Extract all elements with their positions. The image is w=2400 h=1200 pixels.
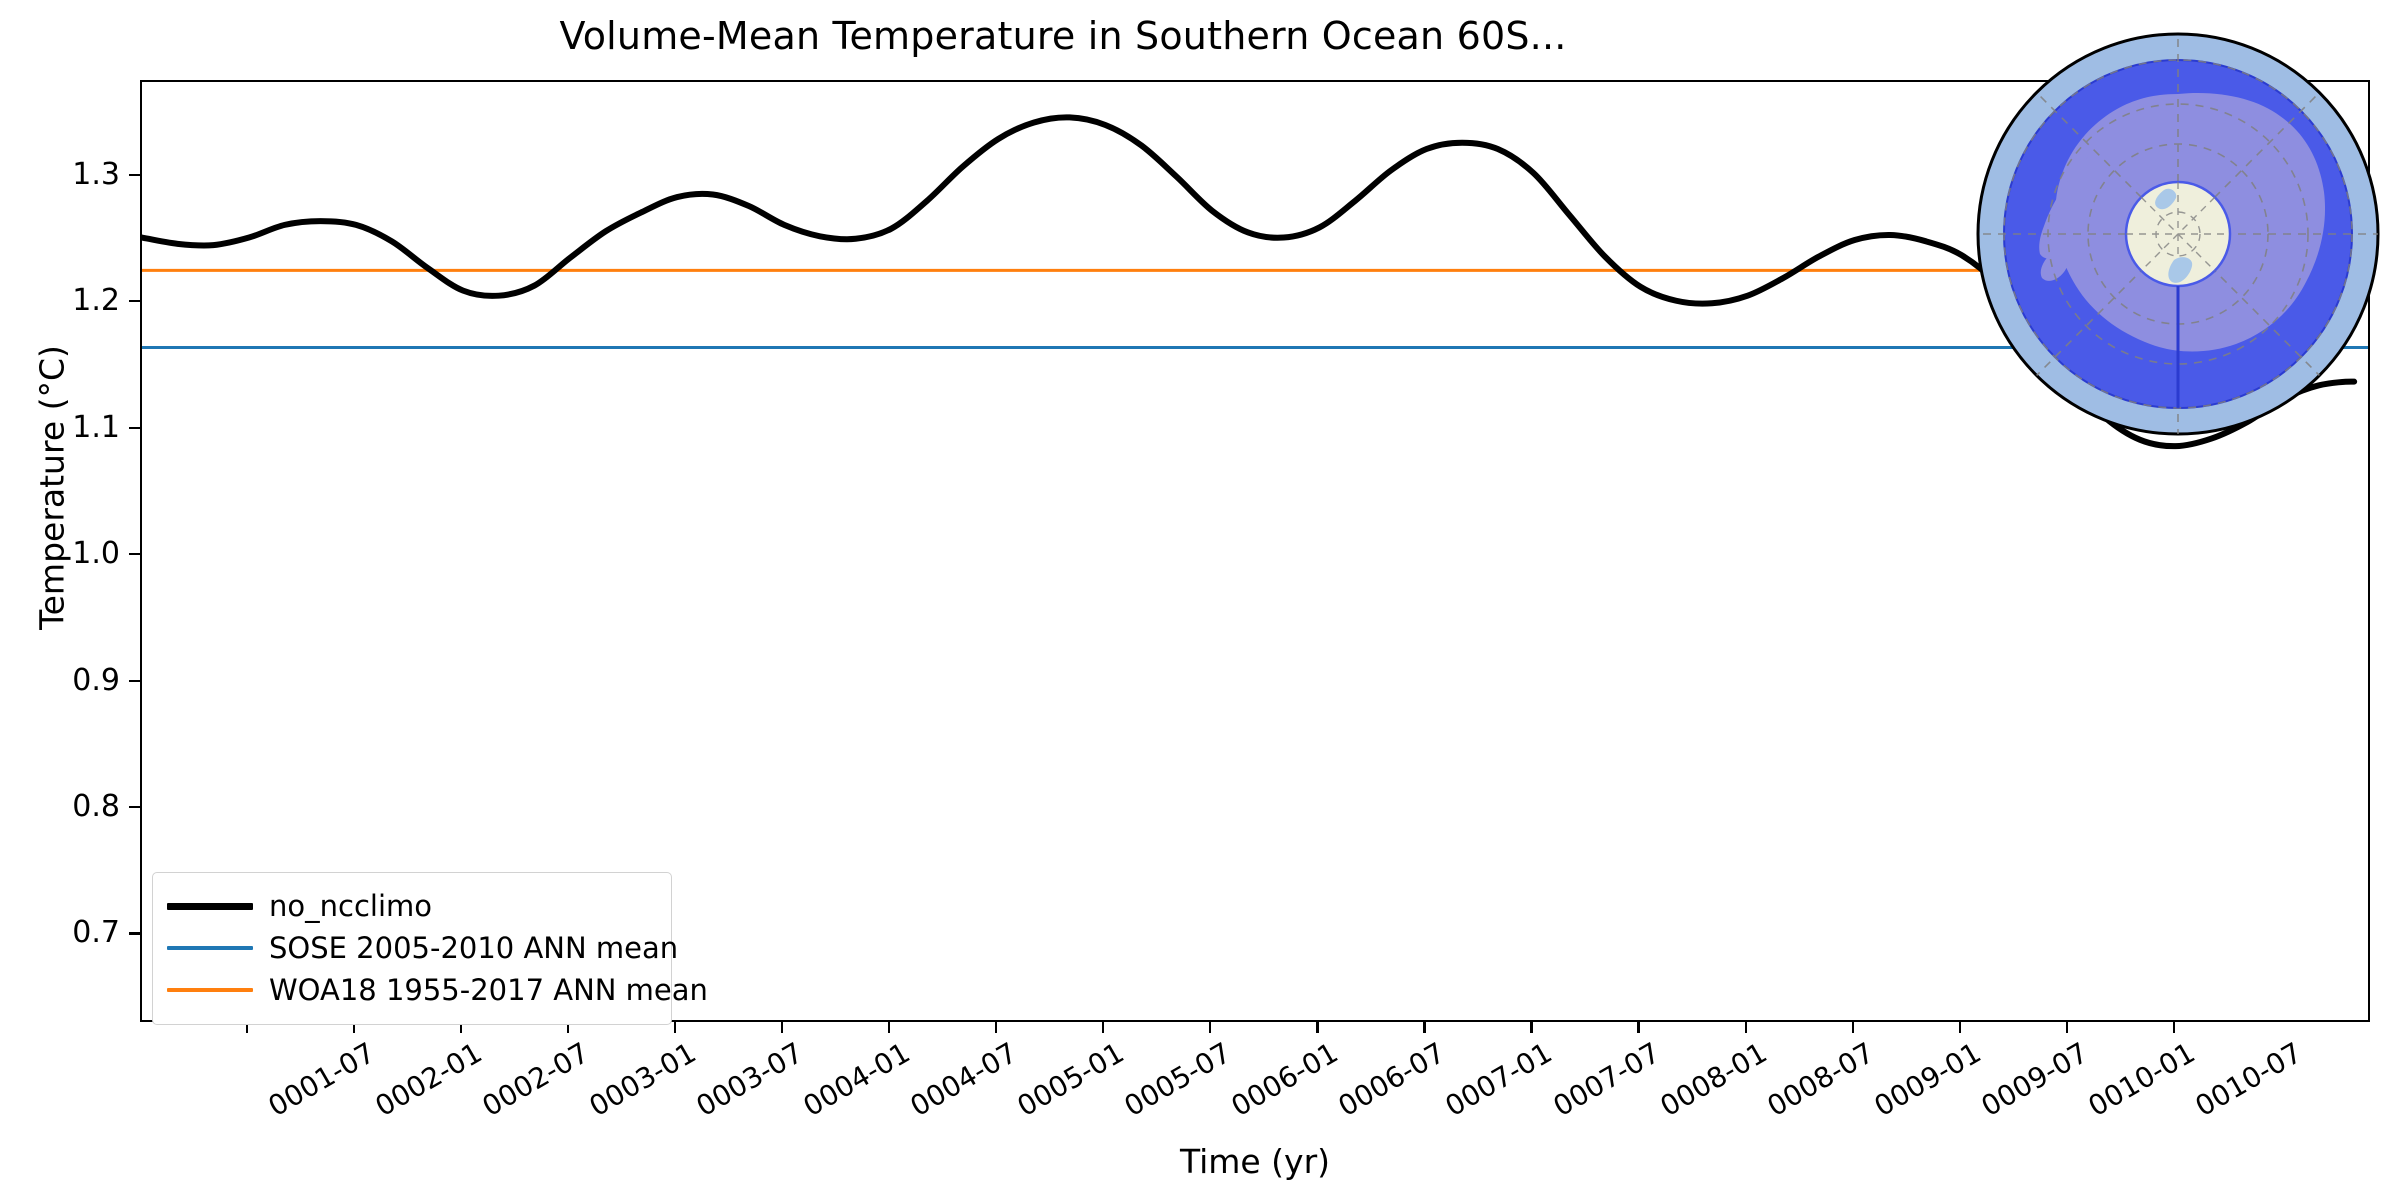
x-tick-label: 0005-07 bbox=[1119, 1036, 1237, 1123]
chart-title-text: Volume-Mean Temperature in Southern Ocea… bbox=[559, 14, 1566, 58]
x-tick-mark bbox=[1959, 1022, 1961, 1033]
y-tick-mark bbox=[129, 174, 140, 176]
x-tick-label: 0007-01 bbox=[1440, 1036, 1558, 1123]
legend-item[interactable]: SOSE 2005-2010 ANN mean bbox=[167, 927, 657, 969]
x-tick-mark bbox=[1209, 1022, 1211, 1033]
y-tick-mark bbox=[129, 553, 140, 555]
x-tick-label: 0007-07 bbox=[1547, 1036, 1665, 1123]
chart-figure: Volume-Mean Temperature in Southern Ocea… bbox=[0, 0, 2400, 1200]
y-tick-label: 1.1 bbox=[10, 408, 120, 448]
y-tick-label: 1.3 bbox=[10, 155, 120, 195]
x-tick-label: 0001-07 bbox=[263, 1036, 381, 1123]
y-tick-mark bbox=[129, 806, 140, 808]
y-tick-label: 1.0 bbox=[10, 534, 120, 574]
y-tick-label: 0.7 bbox=[10, 913, 120, 953]
x-tick-mark bbox=[1637, 1022, 1639, 1033]
antarctica-polar-region-inset-icon bbox=[1968, 24, 2388, 444]
legend-label: SOSE 2005-2010 ANN mean bbox=[269, 934, 678, 963]
x-tick-mark bbox=[1102, 1022, 1104, 1033]
x-tick-label: 0006-07 bbox=[1333, 1036, 1451, 1123]
legend-label: WOA18 1955-2017 ANN mean bbox=[269, 976, 708, 1005]
x-tick-mark bbox=[1423, 1022, 1425, 1033]
y-tick-mark bbox=[129, 932, 140, 934]
x-tick-label: 0006-01 bbox=[1226, 1036, 1344, 1123]
x-tick-label: 0008-01 bbox=[1654, 1036, 1772, 1123]
x-tick-mark bbox=[2173, 1022, 2175, 1033]
x-tick-label: 0010-01 bbox=[2082, 1036, 2200, 1123]
x-tick-mark bbox=[674, 1022, 676, 1033]
x-tick-label: 0009-01 bbox=[1868, 1036, 1986, 1123]
y-tick-label: 0.8 bbox=[10, 787, 120, 827]
x-tick-label: 0010-07 bbox=[2189, 1036, 2307, 1123]
y-tick-mark bbox=[129, 300, 140, 302]
y-tick-label: 0.9 bbox=[10, 661, 120, 701]
x-tick-label: 0004-07 bbox=[905, 1036, 1023, 1123]
legend-label: no_ncclimo bbox=[269, 892, 432, 921]
x-tick-label: 0002-01 bbox=[370, 1036, 488, 1123]
x-tick-mark bbox=[1316, 1022, 1318, 1033]
x-tick-mark bbox=[2066, 1022, 2068, 1033]
x-tick-mark bbox=[1745, 1022, 1747, 1033]
y-tick-mark bbox=[129, 427, 140, 429]
x-tick-label: 0008-07 bbox=[1761, 1036, 1879, 1123]
y-tick-label: 1.2 bbox=[10, 281, 120, 321]
y-tick-mark bbox=[129, 680, 140, 682]
x-tick-mark bbox=[1530, 1022, 1532, 1033]
x-tick-mark bbox=[888, 1022, 890, 1033]
x-tick-label: 0003-01 bbox=[584, 1036, 702, 1123]
legend-item[interactable]: no_ncclimo bbox=[167, 885, 657, 927]
x-tick-label: 0004-01 bbox=[798, 1036, 916, 1123]
x-axis-label: Time (yr) bbox=[140, 1142, 2370, 1181]
x-tick-mark bbox=[995, 1022, 997, 1033]
x-tick-label: 0005-01 bbox=[1012, 1036, 1130, 1123]
x-tick-label: 0002-07 bbox=[477, 1036, 595, 1123]
x-tick-label: 0009-07 bbox=[1975, 1036, 2093, 1123]
legend-box[interactable]: no_ncclimoSOSE 2005-2010 ANN meanWOA18 1… bbox=[152, 872, 672, 1025]
x-tick-mark bbox=[1852, 1022, 1854, 1033]
x-tick-label: 0003-07 bbox=[691, 1036, 809, 1123]
x-tick-mark bbox=[781, 1022, 783, 1033]
legend-item[interactable]: WOA18 1955-2017 ANN mean bbox=[167, 969, 657, 1011]
